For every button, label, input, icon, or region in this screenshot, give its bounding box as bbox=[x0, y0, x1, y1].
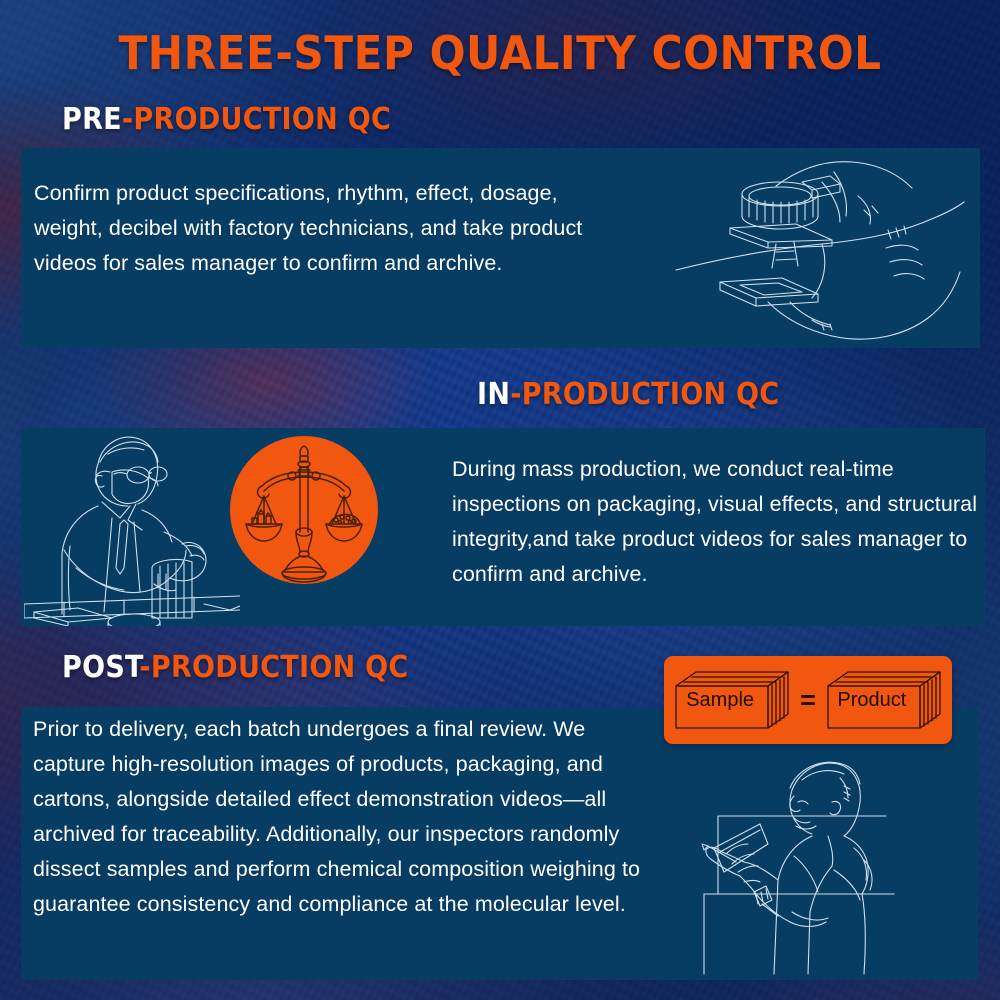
equals-sign: = bbox=[800, 687, 816, 714]
sample-label: Sample bbox=[672, 668, 768, 732]
product-label: Product bbox=[824, 668, 920, 732]
section-heading-pre-production: PRE-PRODUCTION QC bbox=[62, 102, 391, 137]
section-heading-post-production: POST-PRODUCTION QC bbox=[62, 650, 409, 685]
body-text-post-production: Prior to delivery, each batch undergoes … bbox=[33, 712, 663, 922]
body-text-pre-production: Confirm product specifications, rhythm, … bbox=[34, 176, 594, 281]
balance-scale-icon bbox=[230, 436, 378, 584]
sample-box-figure: Sample bbox=[672, 668, 792, 732]
section-heading-pre-production-white: PRE bbox=[62, 102, 122, 137]
sample-equals-product-badge: Sample = Product bbox=[664, 656, 952, 744]
body-text-in-production: During mass production, we conduct real-… bbox=[452, 452, 982, 592]
section-heading-pre-production-orange: -PRODUCTION QC bbox=[122, 102, 391, 137]
page-title: THREE-STEP QUALITY CONTROL bbox=[0, 26, 1000, 80]
section-heading-in-production-white: IN bbox=[477, 377, 510, 412]
section-heading-post-production-orange: -PRODUCTION QC bbox=[139, 650, 408, 685]
infographic-stage: THREE-STEP QUALITY CONTROL PRE-PRODUCTIO… bbox=[0, 0, 1000, 1000]
section-heading-in-production-orange: -PRODUCTION QC bbox=[510, 377, 779, 412]
product-box-figure: Product bbox=[824, 668, 944, 732]
section-heading-in-production: IN-PRODUCTION QC bbox=[477, 377, 779, 412]
section-heading-post-production-white: POST bbox=[62, 650, 139, 685]
